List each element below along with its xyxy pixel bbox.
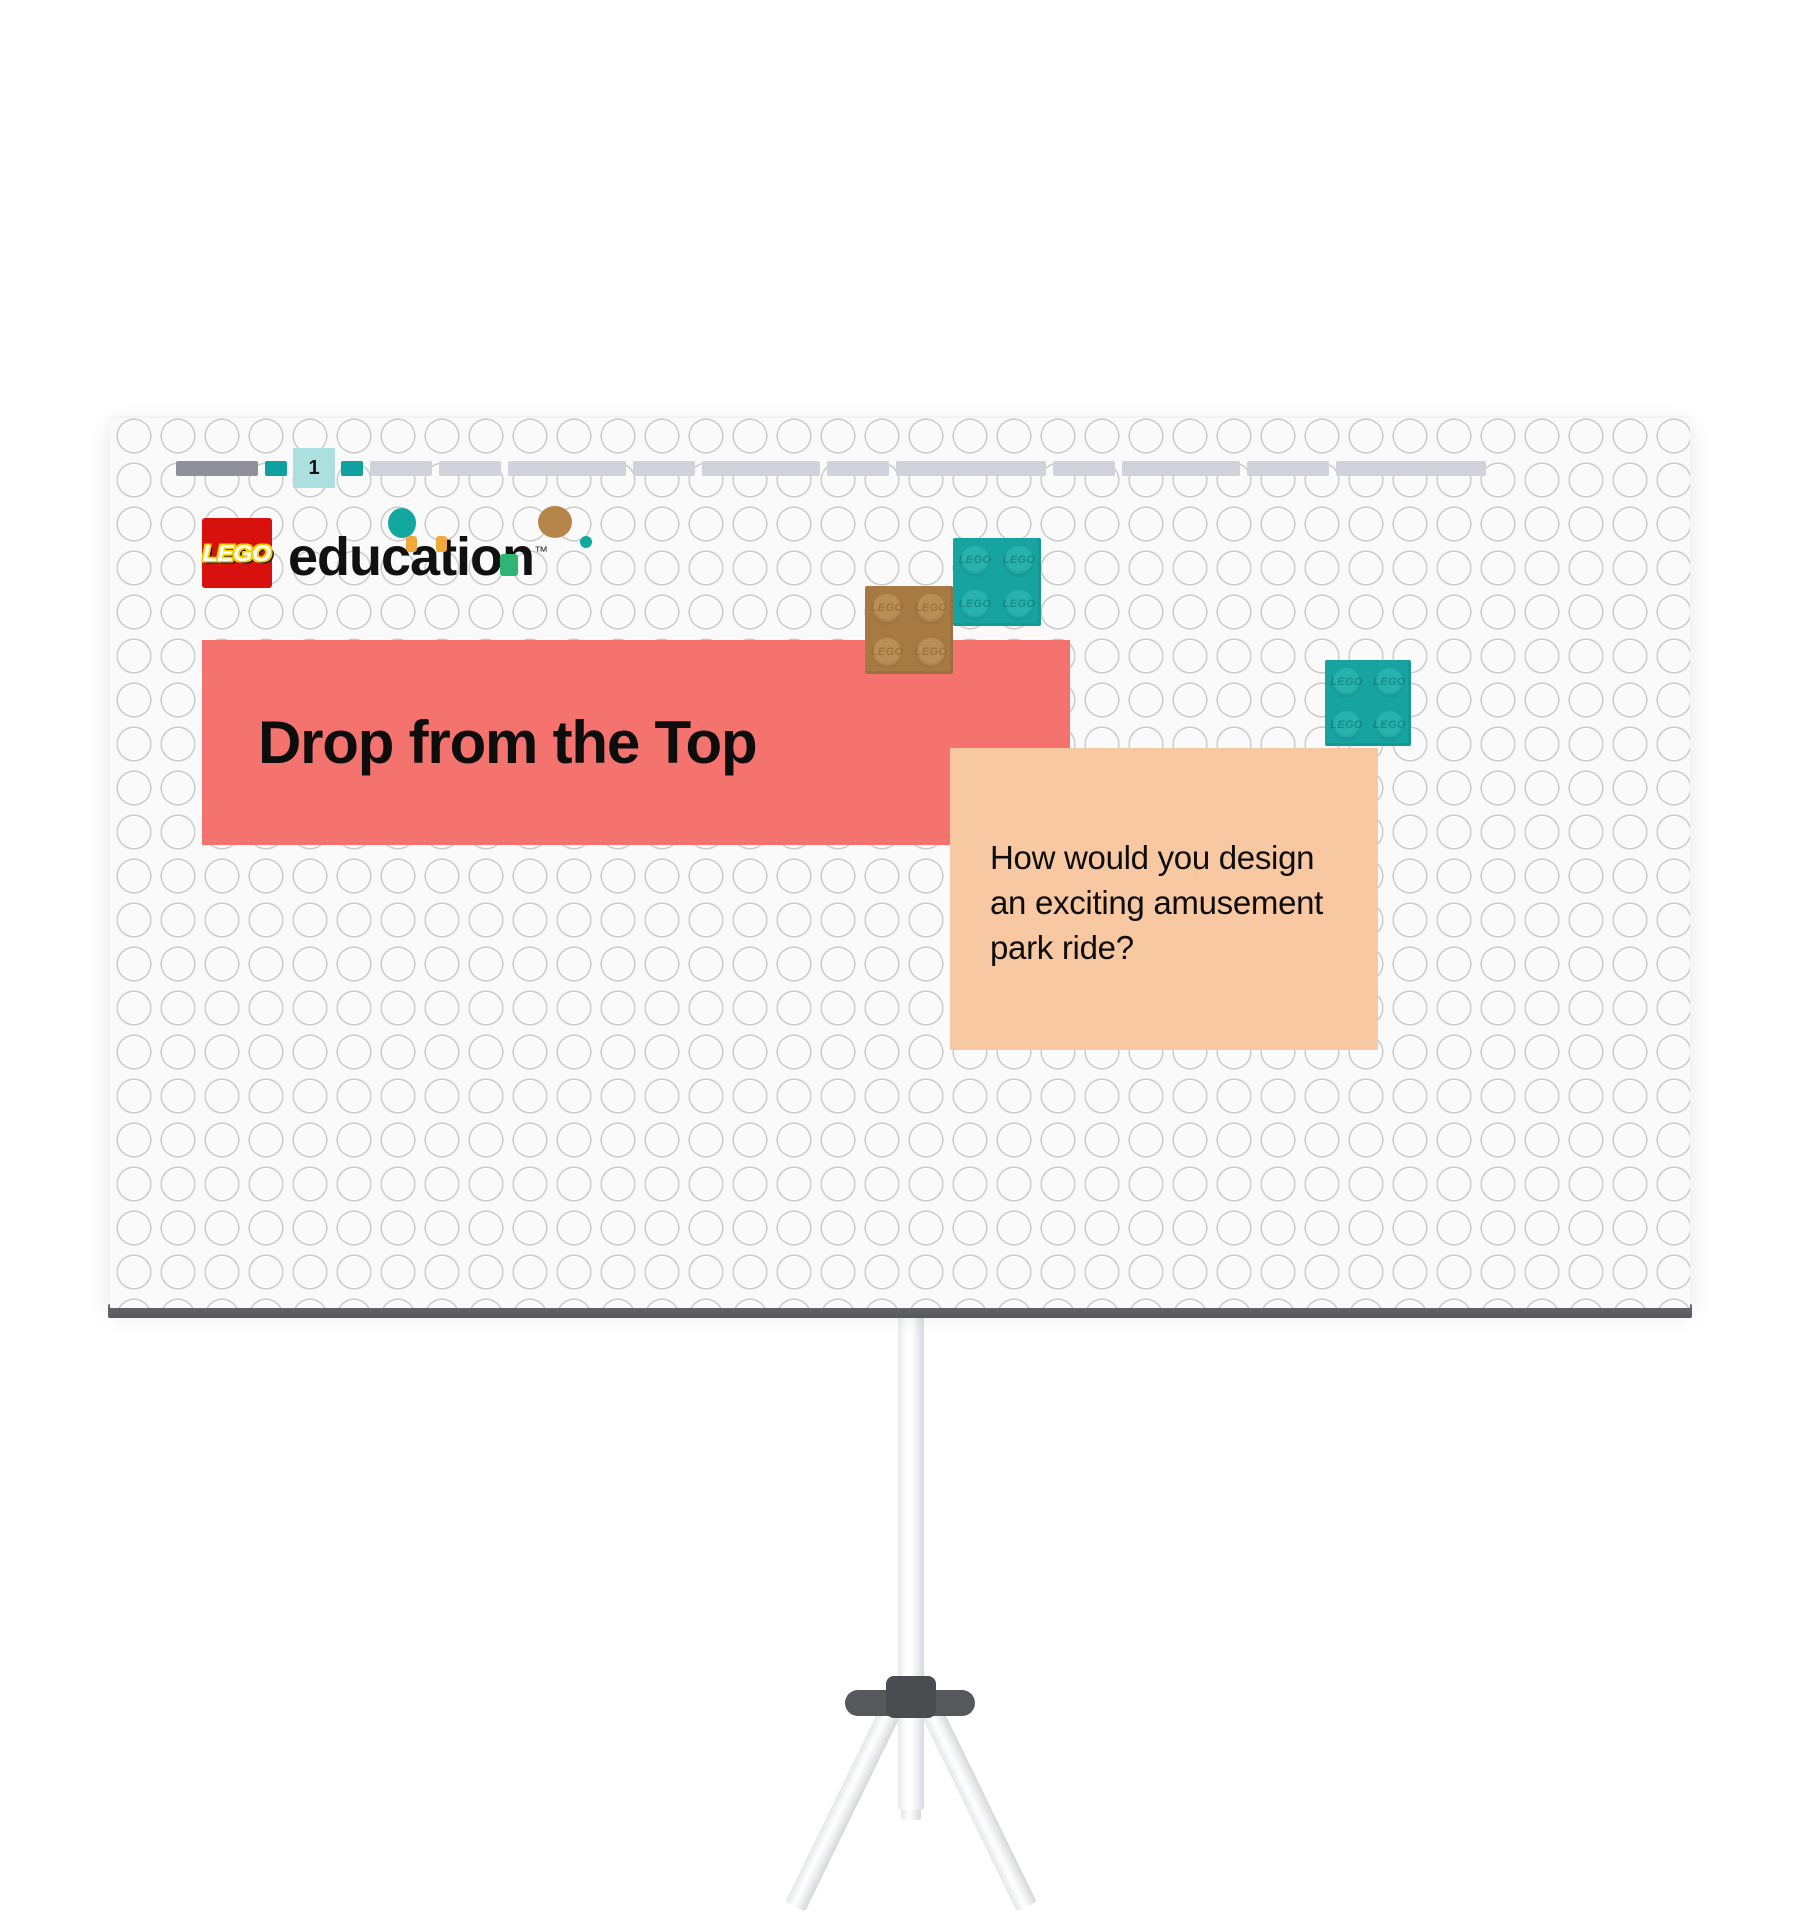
lego-education-logo: LEGO education™ bbox=[202, 518, 547, 588]
education-wordmark: education™ bbox=[288, 530, 547, 588]
progress-segment-7[interactable] bbox=[633, 461, 695, 476]
brick-studs: LEGO LEGO LEGO LEGO bbox=[865, 586, 953, 674]
brick-studs: LEGO LEGO LEGO LEGO bbox=[1325, 660, 1411, 746]
progress-segment-5[interactable] bbox=[439, 461, 501, 476]
brick-stud: LEGO bbox=[1376, 711, 1403, 738]
lego-brand-mark: LEGO bbox=[202, 518, 272, 588]
tripod-leg-left bbox=[785, 1695, 906, 1911]
tripod-center-pole bbox=[898, 1310, 924, 1810]
easel-assembly: 1 LEGO education™ LEGO LE bbox=[0, 0, 1800, 1800]
wordmark-accent-u-right bbox=[436, 536, 447, 552]
slide-progress-bar[interactable]: 1 bbox=[176, 448, 1646, 488]
progress-segment-12[interactable] bbox=[1122, 461, 1240, 476]
question-card: How would you design an exciting amuseme… bbox=[950, 748, 1378, 1050]
brick-stud: LEGO bbox=[961, 546, 988, 573]
progress-segment-10[interactable] bbox=[896, 461, 1046, 476]
progress-segment-8[interactable] bbox=[702, 461, 820, 476]
brick-studs: LEGO LEGO LEGO LEGO bbox=[953, 538, 1041, 626]
brick-stud: LEGO bbox=[1376, 668, 1403, 695]
progress-segment-14[interactable] bbox=[1336, 461, 1486, 476]
page-title: Drop from the Top bbox=[258, 708, 756, 777]
lego-mark-text: LEGO bbox=[203, 540, 271, 567]
wordmark-accent-i-dot bbox=[580, 536, 592, 548]
brick-stud: LEGO bbox=[917, 638, 944, 665]
brick-stud: LEGO bbox=[873, 594, 900, 621]
brick-stud: LEGO bbox=[917, 594, 944, 621]
lego-brick-teal-upper: LEGO LEGO LEGO LEGO bbox=[953, 538, 1041, 626]
brick-stud: LEGO bbox=[1005, 590, 1032, 617]
brick-stud: LEGO bbox=[1333, 668, 1360, 695]
brick-stud: LEGO bbox=[873, 638, 900, 665]
wordmark-accent-d-flag bbox=[388, 508, 416, 538]
progress-segment-13[interactable] bbox=[1247, 461, 1329, 476]
progress-segment-3[interactable] bbox=[341, 461, 363, 476]
tripod-hinge-center bbox=[886, 1676, 936, 1718]
brick-stud: LEGO bbox=[1333, 711, 1360, 738]
lego-brick-teal-right: LEGO LEGO LEGO LEGO bbox=[1325, 660, 1411, 746]
wordmark-accent-a bbox=[500, 554, 518, 576]
progress-segment-11[interactable] bbox=[1053, 461, 1115, 476]
tripod-leg-right bbox=[916, 1695, 1037, 1911]
question-text: How would you design an exciting amuseme… bbox=[990, 836, 1340, 971]
brick-stud: LEGO bbox=[1005, 546, 1032, 573]
progress-segment-4[interactable] bbox=[370, 461, 432, 476]
trademark-symbol: ™ bbox=[534, 543, 547, 559]
progress-segment-6[interactable] bbox=[508, 461, 626, 476]
presentation-slide: 1 LEGO education™ LEGO LE bbox=[110, 418, 1690, 1308]
progress-segment-9[interactable] bbox=[827, 461, 889, 476]
wordmark-accent-t-flag bbox=[538, 506, 572, 538]
current-step-indicator: 1 bbox=[293, 448, 335, 488]
progress-segment-1[interactable] bbox=[176, 461, 258, 476]
progress-segment-2[interactable] bbox=[265, 461, 287, 476]
brick-stud: LEGO bbox=[961, 590, 988, 617]
lego-brick-brown: LEGO LEGO LEGO LEGO bbox=[865, 586, 953, 674]
wordmark-accent-u-left bbox=[406, 536, 417, 552]
